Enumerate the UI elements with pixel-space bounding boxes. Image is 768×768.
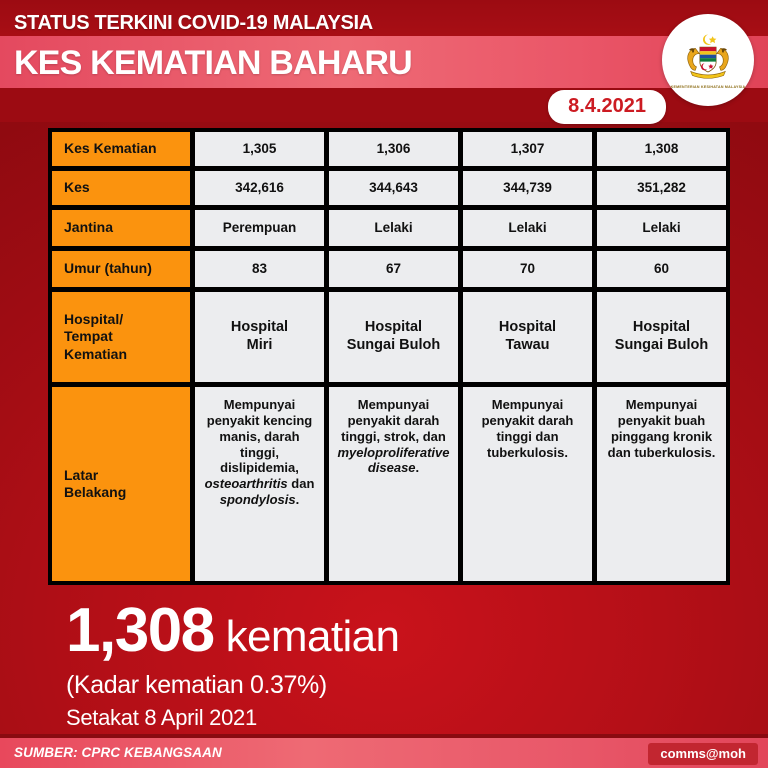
summary-headline: 1,308 kematian: [66, 600, 399, 662]
row-label-latar-belakang: Latar Belakang: [51, 386, 191, 582]
cell-latar-2: Mempunyai penyakit darah tinggi, strok, …: [328, 386, 459, 582]
row-label-hospital-line3: Kematian: [64, 346, 186, 363]
row-label-latar-line1: Latar: [64, 467, 186, 484]
cell-hospital-1: Hospital Miri: [194, 291, 325, 383]
summary-as-of-date: Setakat 8 April 2021: [66, 705, 399, 731]
row-label-hospital: Hospital/ Tempat Kematian: [51, 291, 191, 383]
cell-umur-1: 83: [194, 250, 325, 288]
hospital-line1: Hospital: [467, 319, 588, 337]
hospital-line2: Sungai Buloh: [601, 337, 722, 355]
date-badge: 8.4.2021: [548, 90, 666, 124]
cell-jantina-4: Lelaki: [596, 209, 727, 247]
moh-emblem: KEMENTERIAN KESIHATAN MALAYSIA: [662, 14, 754, 106]
infographic-poster: STATUS TERKINI COVID-19 MALAYSIA KES KEM…: [0, 0, 768, 768]
cell-latar-1: Mempunyai penyakit kencing manis, darah …: [194, 386, 325, 582]
header-subtitle: STATUS TERKINI COVID-19 MALAYSIA: [14, 12, 373, 35]
latar-italic-1: myeloproliferative disease: [338, 445, 450, 476]
footer-source: SUMBER: CPRC KEBANGSAAN: [14, 745, 222, 760]
latar-plain-1: Mempunyai penyakit darah tinggi dan tube…: [482, 397, 574, 460]
table-row-kes-kematian: Kes Kematian 1,305 1,306 1,307 1,308: [51, 131, 727, 167]
cell-kes-2: 344,643: [328, 170, 459, 206]
footer-bar: SUMBER: CPRC KEBANGSAAN comms@moh: [0, 738, 768, 768]
cell-kes-kematian-4: 1,308: [596, 131, 727, 167]
summary-unit-label: kematian: [226, 615, 400, 659]
row-label-latar-line2: Belakang: [64, 484, 186, 501]
row-label-jantina: Jantina: [51, 209, 191, 247]
latar-plain-1: Mempunyai penyakit darah tinggi, strok, …: [341, 397, 446, 444]
latar-plain-2: .: [416, 460, 420, 475]
cell-kes-3: 344,739: [462, 170, 593, 206]
row-label-umur: Umur (tahun): [51, 250, 191, 288]
cell-jantina-2: Lelaki: [328, 209, 459, 247]
cell-latar-4: Mempunyai penyakit buah pinggang kronik …: [596, 386, 727, 582]
hospital-line2: Sungai Buloh: [333, 337, 454, 355]
cell-umur-3: 70: [462, 250, 593, 288]
hospital-line1: Hospital: [333, 319, 454, 337]
table-row-jantina: Jantina Perempuan Lelaki Lelaki Lelaki: [51, 209, 727, 247]
table-row-latar-belakang: Latar Belakang Mempunyai penyakit kencin…: [51, 386, 727, 582]
hospital-line1: Hospital: [199, 319, 320, 337]
cell-latar-3: Mempunyai penyakit darah tinggi dan tube…: [462, 386, 593, 582]
cell-hospital-2: Hospital Sungai Buloh: [328, 291, 459, 383]
summary-block: 1,308 kematian (Kadar kematian 0.37%) Se…: [66, 600, 399, 731]
row-label-hospital-line2: Tempat: [64, 328, 186, 345]
latar-italic-2: spondylosis: [220, 492, 296, 507]
summary-death-count: 1,308: [66, 600, 214, 662]
emblem-caption: KEMENTERIAN KESIHATAN MALAYSIA: [671, 85, 746, 89]
cell-hospital-3: Hospital Tawau: [462, 291, 593, 383]
cell-kes-kematian-3: 1,307: [462, 131, 593, 167]
cell-kes-1: 342,616: [194, 170, 325, 206]
cell-umur-4: 60: [596, 250, 727, 288]
row-label-kes: Kes: [51, 170, 191, 206]
footer-comms-badge: comms@moh: [648, 743, 758, 765]
summary-fatality-rate: (Kadar kematian 0.37%): [66, 671, 399, 700]
table-row-hospital: Hospital/ Tempat Kematian Hospital Miri …: [51, 291, 727, 383]
latar-plain-1: Mempunyai penyakit buah pinggang kronik …: [608, 397, 716, 460]
hospital-line1: Hospital: [601, 319, 722, 337]
deaths-table-container: Kes Kematian 1,305 1,306 1,307 1,308 Kes…: [48, 128, 712, 585]
table-row-kes: Kes 342,616 344,643 344,739 351,282: [51, 170, 727, 206]
cell-umur-2: 67: [328, 250, 459, 288]
row-label-hospital-line1: Hospital/: [64, 311, 186, 328]
latar-plain-3: .: [296, 492, 300, 507]
cell-jantina-3: Lelaki: [462, 209, 593, 247]
latar-plain-1: Mempunyai penyakit kencing manis, darah …: [207, 397, 312, 475]
cell-kes-kematian-2: 1,306: [328, 131, 459, 167]
hospital-line2: Tawau: [467, 337, 588, 355]
cell-kes-kematian-1: 1,305: [194, 131, 325, 167]
page-title: KES KEMATIAN BAHARU: [14, 44, 412, 83]
table-row-umur: Umur (tahun) 83 67 70 60: [51, 250, 727, 288]
latar-plain-2: dan: [288, 476, 315, 491]
latar-italic-1: osteoarthritis: [205, 476, 288, 491]
malaysia-coat-of-arms-icon: [679, 31, 737, 83]
cell-hospital-4: Hospital Sungai Buloh: [596, 291, 727, 383]
row-label-kes-kematian: Kes Kematian: [51, 131, 191, 167]
cell-kes-4: 351,282: [596, 170, 727, 206]
cell-jantina-1: Perempuan: [194, 209, 325, 247]
deaths-table: Kes Kematian 1,305 1,306 1,307 1,308 Kes…: [48, 128, 730, 585]
hospital-line2: Miri: [199, 337, 320, 355]
